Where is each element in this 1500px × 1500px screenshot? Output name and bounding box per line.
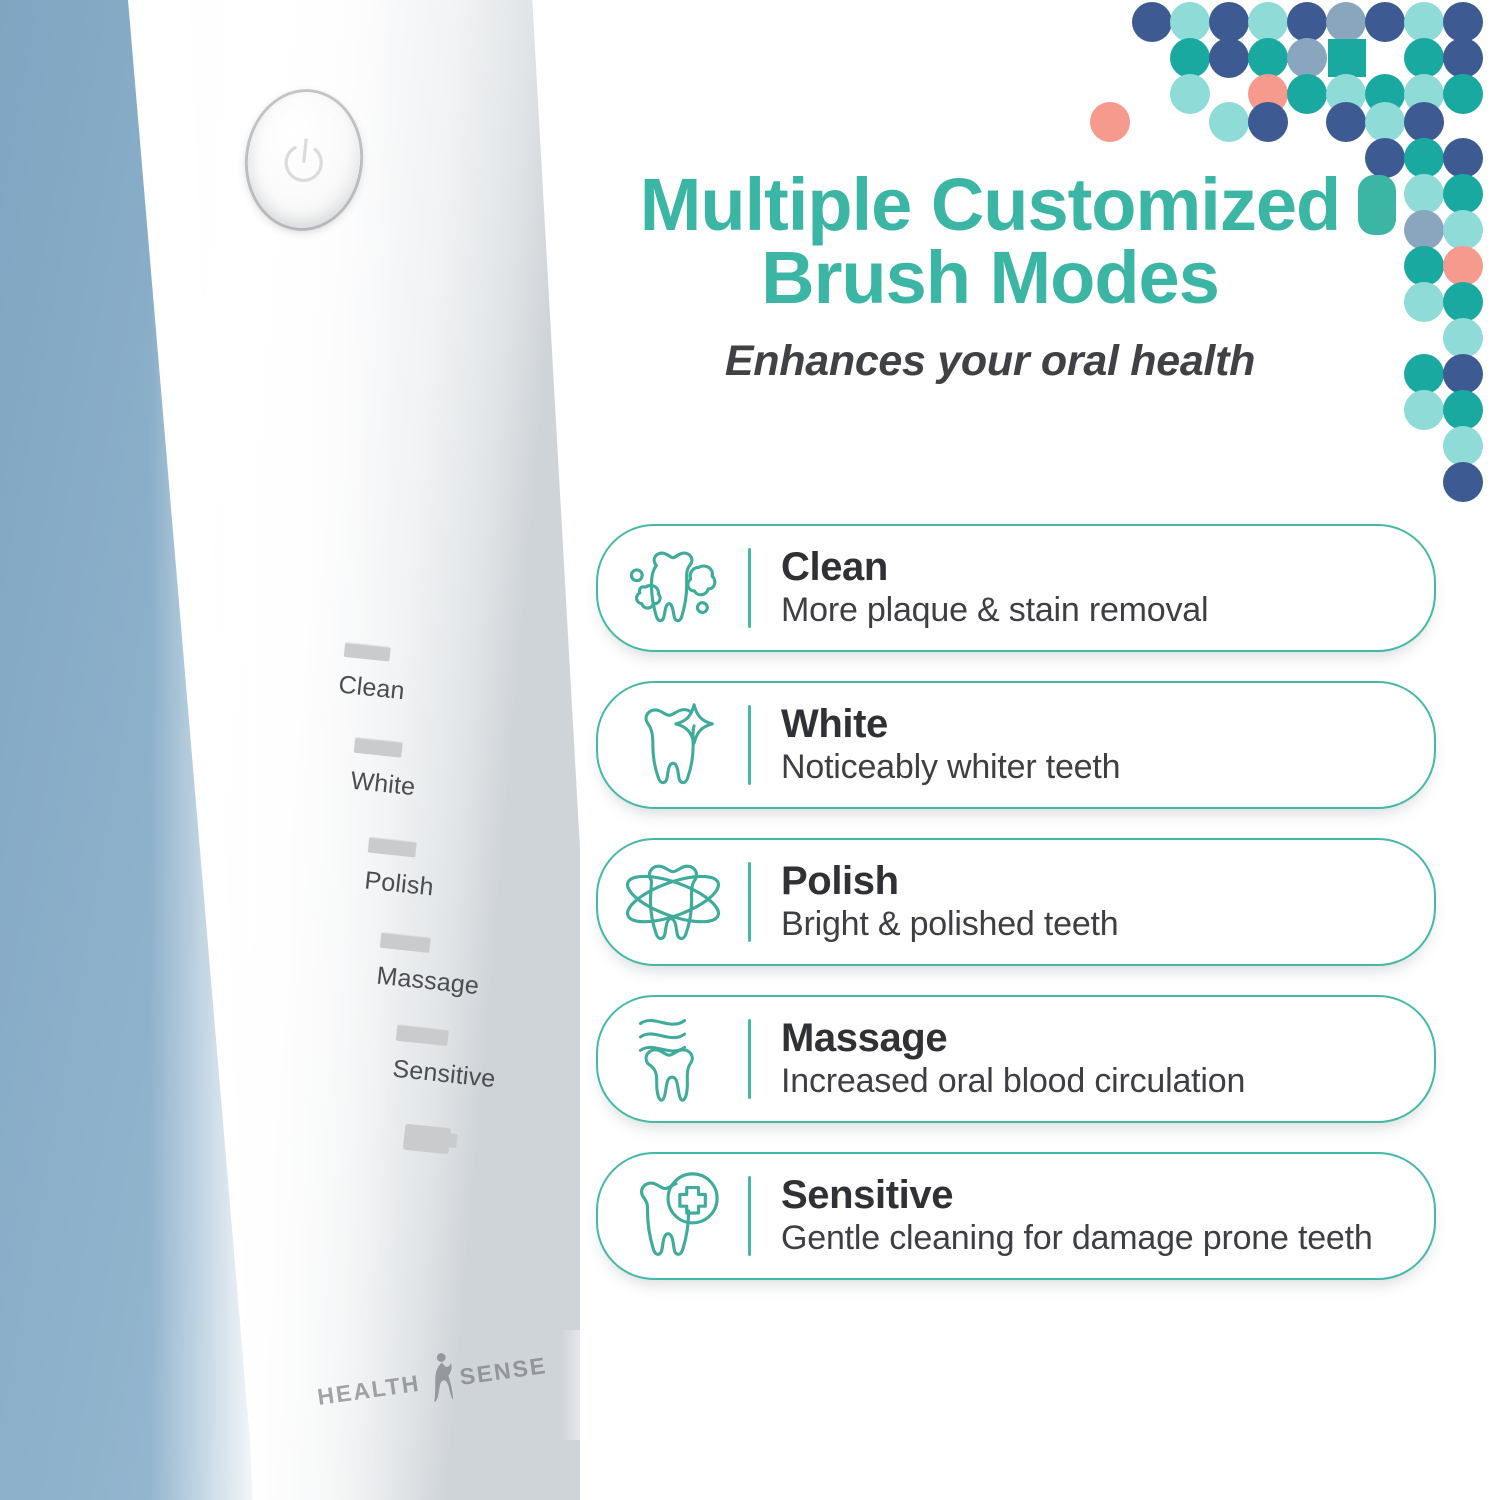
- brand-name-part1: Health: [314, 1361, 422, 1413]
- power-icon: [274, 130, 333, 189]
- battery-tip: [448, 1133, 457, 1148]
- mode-card-list: Clean More plaque & stain removal White …: [596, 524, 1436, 1280]
- product-image-panel: Clean White Polish Massage Sensitive Hea…: [0, 0, 600, 1500]
- mode-desc-sensitive: Gentle cleaning for damage prone teeth: [781, 1219, 1373, 1258]
- brand-figure-icon: [421, 1349, 458, 1405]
- mode-card-massage[interactable]: Massage Increased oral blood circulation: [596, 995, 1436, 1123]
- card-text-block: Sensitive Gentle cleaning for damage pro…: [751, 1174, 1399, 1258]
- tooth-sparkle-icon: [598, 699, 748, 791]
- tooth-bubbles-icon: [598, 542, 748, 634]
- tooth-waves-icon: [598, 1012, 748, 1106]
- mode-card-sensitive[interactable]: Sensitive Gentle cleaning for damage pro…: [596, 1152, 1436, 1280]
- page-subtitle: Enhances your oral health: [520, 337, 1460, 386]
- mode-desc-white: Noticeably whiter teeth: [781, 748, 1120, 787]
- led-indicator-polish: Polish: [363, 837, 438, 903]
- mode-desc-massage: Increased oral blood circulation: [781, 1062, 1245, 1101]
- mode-desc-clean: More plaque & stain removal: [781, 591, 1208, 630]
- led-indicator-massage: Massage: [375, 932, 483, 1001]
- page-title: Multiple Customized Brush Modes: [520, 0, 1500, 315]
- mode-card-clean[interactable]: Clean More plaque & stain removal: [596, 524, 1436, 652]
- mode-title-massage: Massage: [781, 1017, 1245, 1060]
- battery-icon: [403, 1124, 451, 1155]
- led-indicator-sensitive: Sensitive: [391, 1024, 500, 1094]
- mode-title-polish: Polish: [781, 860, 1119, 903]
- card-text-block: White Noticeably whiter teeth: [751, 703, 1146, 787]
- mode-desc-polish: Bright & polished teeth: [781, 905, 1119, 944]
- headline-line-2: Brush Modes: [520, 241, 1460, 314]
- mode-title-white: White: [781, 703, 1120, 746]
- headline-line-1: Multiple Customized: [520, 168, 1460, 241]
- led-indicator-white: White: [349, 737, 420, 802]
- tooth-cross-icon: [598, 1168, 748, 1264]
- tooth-orbit-icon: [598, 855, 748, 949]
- card-text-block: Massage Increased oral blood circulation: [751, 1017, 1271, 1101]
- mode-title-clean: Clean: [781, 546, 1208, 589]
- mode-card-white[interactable]: White Noticeably whiter teeth: [596, 681, 1436, 809]
- card-text-block: Clean More plaque & stain removal: [751, 546, 1234, 630]
- led-indicator-clean: Clean: [337, 642, 409, 707]
- mode-title-sensitive: Sensitive: [781, 1174, 1373, 1217]
- card-text-block: Polish Bright & polished teeth: [751, 860, 1145, 944]
- content-column: Multiple Customized Brush Modes Enhances…: [520, 0, 1500, 1500]
- mode-card-polish[interactable]: Polish Bright & polished teeth: [596, 838, 1436, 966]
- battery-body: [403, 1124, 451, 1155]
